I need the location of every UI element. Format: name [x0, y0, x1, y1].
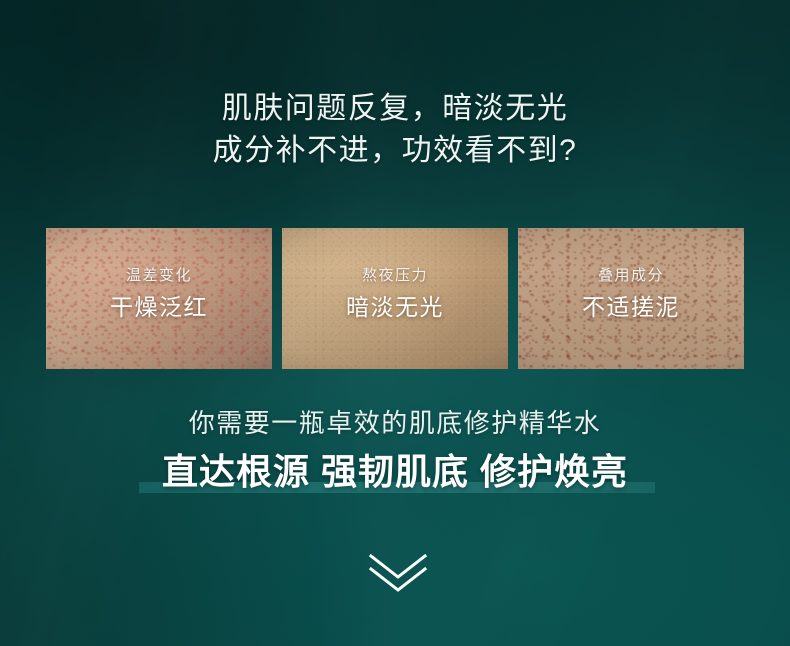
- card-caption: 熬夜压力 暗淡无光: [282, 266, 508, 321]
- card-caption: 叠用成分 不适搓泥: [518, 266, 744, 321]
- claim-title: 直达根源 强韧肌底 修护焕亮: [0, 449, 790, 495]
- card-subtitle: 叠用成分: [518, 266, 744, 286]
- card-subtitle: 温差变化: [46, 266, 272, 286]
- claim-block: 你需要一瓶卓效的肌底修护精华水 直达根源 强韧肌底 修护焕亮: [0, 405, 790, 497]
- claim-subtitle: 你需要一瓶卓效的肌底修护精华水: [0, 405, 790, 441]
- card-caption: 温差变化 干燥泛红: [46, 266, 272, 321]
- problem-card[interactable]: 叠用成分 不适搓泥: [518, 228, 744, 369]
- headline-line-1: 肌肤问题反复，暗淡无光: [222, 92, 569, 125]
- card-title: 不适搓泥: [518, 293, 744, 321]
- claim-title-wrapper: 直达根源 强韧肌底 修护焕亮: [0, 449, 790, 497]
- chevron-svg: [368, 553, 428, 593]
- card-title: 暗淡无光: [282, 293, 508, 321]
- headline-line-2: 成分补不进，功效看不到?: [0, 130, 790, 172]
- double-chevron-down-icon[interactable]: [368, 553, 428, 593]
- promo-page: 肌肤问题反复，暗淡无光 成分补不进，功效看不到? 温差变化 干燥泛红 熬夜压力 …: [0, 0, 790, 646]
- problem-card[interactable]: 熬夜压力 暗淡无光: [282, 228, 508, 369]
- problem-cards: 温差变化 干燥泛红 熬夜压力 暗淡无光 叠用成分 不适搓泥: [46, 228, 744, 369]
- card-subtitle: 熬夜压力: [282, 266, 508, 286]
- problem-card[interactable]: 温差变化 干燥泛红: [46, 228, 272, 369]
- card-title: 干燥泛红: [46, 293, 272, 321]
- page-headline: 肌肤问题反复，暗淡无光 成分补不进，功效看不到?: [0, 88, 790, 172]
